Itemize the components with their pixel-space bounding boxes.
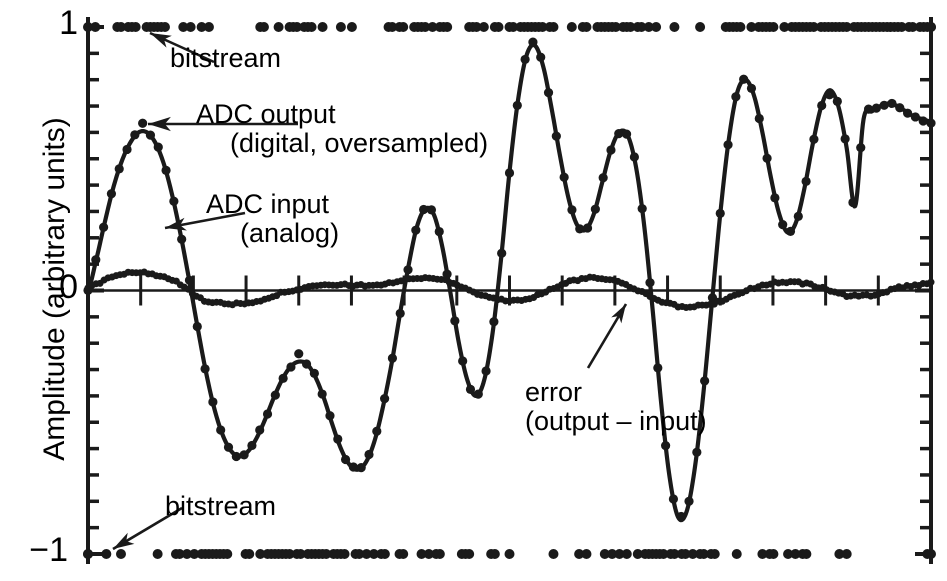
- y-tick-label-0: 0: [18, 268, 78, 307]
- y-tick-label-minus-1: −1: [8, 531, 68, 570]
- annotation-error: error (output – input): [525, 378, 707, 436]
- annotation-adc-input: ADC input (analog): [206, 190, 339, 248]
- annotation-bitstream-bottom-line1: bitstream: [165, 491, 276, 521]
- y-tick-label-1: 1: [18, 4, 78, 43]
- plot-canvas: [0, 0, 947, 581]
- annotation-bitstream-top-line1: bitstream: [170, 43, 281, 73]
- annotation-error-line2: (output – input): [525, 407, 707, 436]
- chart-figure: Amplitude (arbitrary units) 1 0 −1 bitst…: [0, 0, 947, 581]
- annotation-adc-input-line1: ADC input: [206, 189, 329, 219]
- annotation-bitstream-top: bitstream: [170, 44, 281, 73]
- annotation-bitstream-bottom: bitstream: [165, 492, 276, 521]
- annotation-adc-output-line2: (digital, oversampled): [196, 129, 488, 158]
- annotation-adc-output: ADC output (digital, oversampled): [196, 100, 488, 158]
- annotation-adc-output-line1: ADC output: [196, 99, 336, 129]
- annotation-error-line1: error: [525, 377, 582, 407]
- annotation-adc-input-line2: (analog): [206, 219, 339, 248]
